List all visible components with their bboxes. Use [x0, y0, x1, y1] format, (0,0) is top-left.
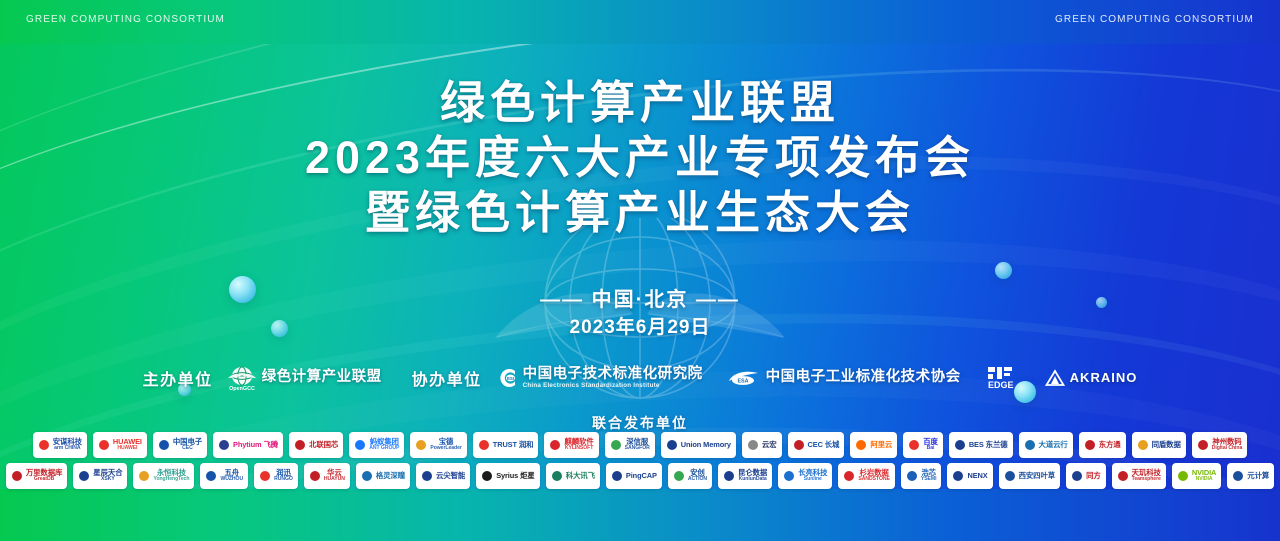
partner-logo-chip[interactable]: 杉岩数据SANDSTONE	[838, 463, 894, 489]
partner-name: BES 东兰德	[969, 441, 1008, 449]
partner-name-en: Sunline	[798, 477, 827, 483]
partner-name-en: PowerLeader	[430, 446, 461, 452]
partner-logo-chip[interactable]: 深信服SANGFOR	[605, 432, 655, 458]
partner-name: 深信服SANGFOR	[625, 438, 650, 452]
partner-mark-icon	[218, 439, 230, 451]
event-date: 2023年6月29日	[0, 312, 1280, 339]
partner-mark-icon	[158, 439, 170, 451]
partner-logo-chip[interactable]: 北联国芯	[289, 432, 343, 458]
partner-mark-icon	[294, 439, 306, 451]
partner-mark-icon	[1137, 439, 1149, 451]
cesi-name-en: China Electronics Standardization Instit…	[523, 382, 703, 389]
partner-name: 天玑科技Teamsphere	[1132, 469, 1161, 483]
partner-mark-icon	[138, 470, 150, 482]
partner-mark-icon	[38, 439, 50, 451]
partner-logo-chip[interactable]: Syrius 炬星	[476, 463, 540, 489]
partner-mark-icon	[361, 470, 373, 482]
esa-icon: ESA	[727, 369, 761, 387]
partner-name: 阿里云	[870, 441, 892, 449]
partner-mark-icon	[1197, 439, 1209, 451]
partner-name: NENX	[967, 472, 987, 480]
lf-edge-icon: EDGE	[987, 365, 1027, 391]
partner-name-en: Teamsphere	[1132, 477, 1161, 483]
partner-mark-icon	[549, 439, 561, 451]
partner-logo-chip[interactable]: 安谋科技arm CHINA	[33, 432, 87, 458]
partner-mark-icon	[259, 470, 271, 482]
partner-logo-chip[interactable]: 东方通	[1079, 432, 1126, 458]
partner-logo-chip[interactable]: 同方	[1066, 463, 1106, 489]
partner-name-en: XSKY	[93, 477, 122, 483]
partner-logo-chip[interactable]: TRUST 润和	[473, 432, 539, 458]
partner-logo-chip[interactable]: 大道云行	[1019, 432, 1073, 458]
partner-logo-chip[interactable]: 天玑科技Teamsphere	[1112, 463, 1166, 489]
partner-mark-icon	[1071, 470, 1083, 482]
partner-mark-icon	[1117, 470, 1129, 482]
svg-text:EDGE: EDGE	[988, 380, 1014, 390]
partner-logo-chip[interactable]: 五舟WUZHOU	[200, 463, 248, 489]
partner-name: 华云HUAYUN	[324, 469, 345, 483]
partner-mark-icon	[793, 439, 805, 451]
partner-mark-icon	[78, 470, 90, 482]
bottom-bar	[0, 489, 1280, 541]
event-location: —— 中国·北京 ——	[0, 283, 1280, 312]
partner-logo-chip[interactable]: NVIDIANVIDIA	[1172, 463, 1221, 489]
partner-name: 浩芯YSEMI	[921, 469, 937, 483]
partner-name: CEC 长城	[808, 441, 840, 449]
partner-name-en: YongHengTech	[153, 477, 189, 483]
partner-mark-icon	[673, 470, 685, 482]
partner-logo-chip[interactable]: 宝德PowerLeader	[410, 432, 466, 458]
partner-name: 五舟WUZHOU	[220, 469, 243, 483]
partner-name: 长亮科技Sunline	[798, 469, 827, 483]
partner-name-en: WUZHOU	[220, 477, 243, 483]
akraino-triangle-icon	[1045, 369, 1065, 387]
partner-mark-icon	[1084, 439, 1096, 451]
partner-logo-chip[interactable]: 蚂蚁集团ANT GROUP	[349, 432, 404, 458]
partner-mark-icon	[415, 439, 427, 451]
partner-name: 西安四叶草	[1019, 472, 1055, 480]
organizer-row: 主办单位 OpenGCC 绿色计算产业联盟 协办单位 ESI	[0, 365, 1280, 391]
partner-logo-chip[interactable]: 云宏	[742, 432, 782, 458]
partner-logo-chip[interactable]: BES 东兰德	[949, 432, 1013, 458]
partner-mark-icon	[1232, 470, 1244, 482]
partner-name-en: Bai	[923, 446, 938, 452]
partner-name: 星辰天合XSKY	[93, 469, 122, 483]
partner-logo-chip[interactable]: 中国电子CEC	[153, 432, 207, 458]
partner-mark-icon	[855, 439, 867, 451]
partner-logo-chip[interactable]: 长亮科技Sunline	[778, 463, 832, 489]
partner-mark-icon	[906, 470, 918, 482]
co-organizer-akraino: AKRAINO	[1045, 369, 1138, 387]
partner-mark-icon	[723, 470, 735, 482]
partner-name: HUAWEIHUAWEI	[113, 438, 142, 452]
partner-name: 云宏	[762, 441, 777, 449]
conference-title: 绿色计算产业联盟 2023年度六大产业专项发布会 暨绿色计算产业生态大会	[0, 76, 1280, 241]
co-organizer-lfedge: EDGE LF EDGE	[987, 365, 1027, 391]
partner-mark-icon	[610, 439, 622, 451]
partner-name: 宝德PowerLeader	[430, 438, 461, 452]
akraino-label: AKRAINO	[1070, 371, 1138, 385]
partner-logo-chip[interactable]: 安创ACTION	[668, 463, 712, 489]
partner-logo-chip[interactable]: 华云HUAYUN	[304, 463, 350, 489]
partner-name: 中国电子CEC	[173, 438, 202, 452]
partner-name: TRUST 润和	[493, 441, 534, 449]
partner-logo-row-1: 安谋科技arm CHINAHUAWEIHUAWEI中国电子CECPhytium …	[0, 432, 1280, 458]
partner-logo-grid: 安谋科技arm CHINAHUAWEIHUAWEI中国电子CECPhytium …	[0, 432, 1280, 494]
svg-text:OpenGCC: OpenGCC	[229, 386, 255, 391]
partner-mark-icon	[1004, 470, 1016, 482]
partner-logo-chip[interactable]: NENX	[947, 463, 992, 489]
partner-name: Phytium 飞腾	[233, 441, 278, 449]
partner-name-en: Digital China	[1212, 446, 1242, 452]
partner-name-en: CEC	[173, 446, 202, 452]
partner-name-en: HUAYUN	[324, 477, 345, 483]
partner-mark-icon	[481, 470, 493, 482]
host-label: 主办单位	[143, 366, 213, 390]
title-line-2: 2023年度六大产业专项发布会	[0, 131, 1280, 186]
partner-logo-chip[interactable]: 神州数码Digital China	[1192, 432, 1247, 458]
joint-release-title: 联合发布单位	[0, 413, 1280, 433]
partner-mark-icon	[747, 439, 759, 451]
partner-name: PingCAP	[626, 472, 657, 480]
cesi-icon: ESI	[496, 367, 518, 389]
partner-name: 大道云行	[1039, 441, 1068, 449]
partner-mark-icon	[551, 470, 563, 482]
partner-name: 东方通	[1099, 441, 1121, 449]
partner-logo-chip[interactable]: 阿里云	[850, 432, 897, 458]
partner-logo-chip[interactable]: 百度Bai	[903, 432, 943, 458]
partner-logo-chip[interactable]: CEC 长城	[788, 432, 845, 458]
partner-name: 科大讯飞	[566, 472, 595, 480]
partner-mark-icon	[952, 470, 964, 482]
opengcc-globe-icon: OpenGCC	[227, 365, 257, 391]
partner-name-en: SANDSTONE	[858, 477, 889, 483]
partner-logo-chip[interactable]: 永恒科技YongHengTech	[133, 463, 194, 489]
partner-mark-icon	[783, 470, 795, 482]
co-organizer-cesi: ESI 中国电子技术标准化研究院 China Electronics Stand…	[496, 367, 703, 390]
partner-name: Syrius 炬星	[496, 472, 535, 480]
partner-name-en: ANT GROUP	[369, 446, 399, 452]
partner-name-en: SANGFOR	[625, 446, 650, 452]
co-organizer-label: 协办单位	[412, 366, 482, 390]
title-line-3: 暨绿色计算产业生态大会	[0, 186, 1280, 241]
partner-logo-chip[interactable]: 星辰天合XSKY	[73, 463, 127, 489]
partner-name: 格灵深瞳	[376, 472, 405, 480]
partner-name: 润迅RUNGO	[274, 469, 293, 483]
partner-mark-icon	[309, 470, 321, 482]
host-logo: OpenGCC 绿色计算产业联盟	[227, 365, 382, 391]
partner-name: 麒麟软件KYLINSOFT	[564, 438, 593, 452]
partner-mark-icon	[1024, 439, 1036, 451]
partner-name: 蚂蚁集团ANT GROUP	[369, 438, 399, 452]
partner-logo-chip[interactable]: 麒麟软件KYLINSOFT	[544, 432, 598, 458]
conference-banner: GREEN COMPUTING CONSORTIUM GREEN COMPUTI…	[0, 0, 1280, 541]
partner-mark-icon	[908, 439, 920, 451]
partner-name: 永恒科技YongHengTech	[153, 469, 189, 483]
partner-logo-chip[interactable]: 万里数据库GreatDB	[6, 463, 67, 489]
partner-mark-icon	[1177, 470, 1189, 482]
partner-logo-chip[interactable]: HUAWEIHUAWEI	[93, 432, 147, 458]
partner-mark-icon	[11, 470, 23, 482]
partner-name: 万里数据库GreatDB	[26, 469, 62, 483]
partner-logo-chip[interactable]: 西安四叶草	[999, 463, 1060, 489]
decorative-sphere	[995, 262, 1012, 279]
partner-name-en: NVIDIA	[1192, 477, 1216, 483]
partner-name: 同方	[1086, 472, 1101, 480]
partner-name-en: YSEMI	[921, 477, 937, 483]
partner-name-en: ACTION	[688, 477, 707, 483]
partner-name: 安创ACTION	[688, 469, 707, 483]
partner-logo-chip[interactable]: 科大讯飞	[546, 463, 600, 489]
partner-logo-row-2: 万里数据库GreatDB星辰天合XSKY永恒科技YongHengTech五舟WU…	[0, 463, 1280, 489]
partner-name: NVIDIANVIDIA	[1192, 469, 1216, 483]
co-organizer-esa: ESA 中国电子工业标准化技术协会	[727, 369, 961, 387]
partner-mark-icon	[478, 439, 490, 451]
partner-logo-chip[interactable]: 元计算	[1227, 463, 1274, 489]
partner-name: Union Memory	[681, 441, 731, 449]
partner-name: 杉岩数据SANDSTONE	[858, 469, 889, 483]
partner-logo-chip[interactable]: Phytium 飞腾	[213, 432, 283, 458]
partner-name: 北联国芯	[309, 441, 338, 449]
partner-logo-chip[interactable]: 昆仑数据KunlunData	[718, 463, 772, 489]
partner-logo-chip[interactable]: 浩芯YSEMI	[901, 463, 942, 489]
partner-name: 神州数码Digital China	[1212, 438, 1242, 452]
cesi-name-cn: 中国电子技术标准化研究院	[523, 367, 703, 382]
partner-logo-chip[interactable]: 格灵深瞳	[356, 463, 410, 489]
partner-mark-icon	[421, 470, 433, 482]
partner-name: 元计算	[1247, 472, 1269, 480]
partner-mark-icon	[954, 439, 966, 451]
esa-name-cn: 中国电子工业标准化技术协会	[766, 370, 961, 385]
partner-name-en: arm CHINA	[53, 446, 82, 452]
partner-name-en: KunlunData	[738, 477, 767, 483]
partner-name-en: RUNGO	[274, 477, 293, 483]
partner-name: 同盾数据	[1152, 441, 1181, 449]
title-line-1: 绿色计算产业联盟	[0, 76, 1280, 131]
host-name: 绿色计算产业联盟	[262, 370, 382, 385]
partner-logo-chip[interactable]: 同盾数据	[1132, 432, 1186, 458]
partner-name: 云尖智能	[436, 472, 465, 480]
partner-logo-chip[interactable]: 润迅RUNGO	[254, 463, 298, 489]
partner-mark-icon	[354, 439, 366, 451]
partner-mark-icon	[611, 470, 623, 482]
partner-mark-icon	[843, 470, 855, 482]
svg-text:ESA: ESA	[737, 378, 748, 384]
partner-name: 安谋科技arm CHINA	[53, 438, 82, 452]
partner-name-en: KYLINSOFT	[564, 446, 593, 452]
partner-mark-icon	[666, 439, 678, 451]
partner-logo-chip[interactable]: Union Memory	[661, 432, 736, 458]
partner-mark-icon	[205, 470, 217, 482]
partner-mark-icon	[98, 439, 110, 451]
svg-text:ESI: ESI	[507, 376, 514, 381]
partner-name-en: GreatDB	[26, 477, 62, 483]
partner-name: 昆仑数据KunlunData	[738, 469, 767, 483]
consortium-label-right: GREEN COMPUTING CONSORTIUM	[1055, 14, 1254, 25]
consortium-label-left: GREEN COMPUTING CONSORTIUM	[26, 14, 225, 25]
partner-name-en: HUAWEI	[113, 446, 142, 452]
partner-logo-chip[interactable]: 云尖智能	[416, 463, 470, 489]
partner-name: 百度Bai	[923, 438, 938, 452]
partner-logo-chip[interactable]: PingCAP	[606, 463, 662, 489]
